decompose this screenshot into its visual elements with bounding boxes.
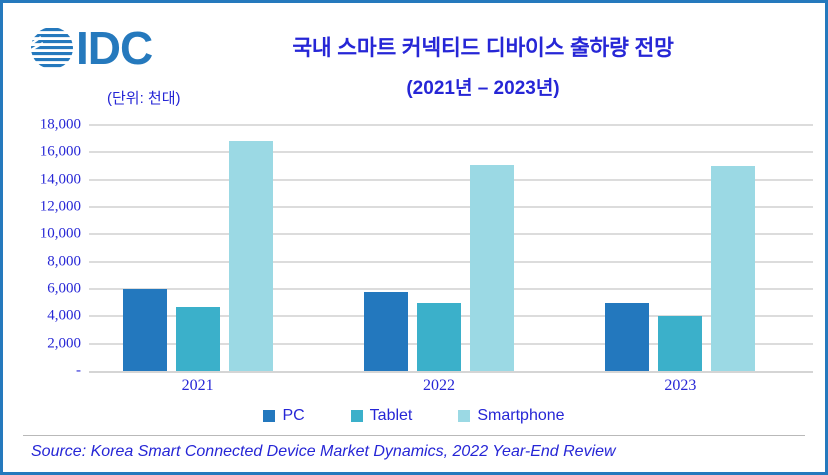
bar-tablet-2021 [176, 307, 220, 371]
x-axis-line [89, 371, 813, 373]
x-axis-tick-label: 2023 [664, 377, 696, 395]
bar-pc-2022 [364, 292, 408, 371]
x-axis-tick-label: 2022 [423, 377, 455, 395]
source-note: Source: Korea Smart Connected Device Mar… [31, 443, 616, 461]
legend-item-pc[interactable]: PC [263, 407, 304, 425]
chart-slide: IDC 국내 스마트 커넥티드 디바이스 출하량 전망 (2021년 – 202… [0, 0, 828, 475]
bar-smartphone-2022 [470, 165, 514, 371]
gridline [89, 151, 813, 153]
legend-swatch-icon [458, 410, 470, 422]
y-axis-tick-label: 12,000 [11, 199, 81, 216]
idc-logo: IDC [29, 21, 152, 75]
legend-label: Smartphone [477, 407, 564, 425]
y-axis-tick-label: 18,000 [11, 117, 81, 134]
gridline [89, 179, 813, 181]
legend-label: Tablet [370, 407, 413, 425]
footer-divider [23, 435, 805, 436]
y-axis-tick-label: 16,000 [11, 144, 81, 161]
bar-smartphone-2021 [229, 141, 273, 371]
legend-swatch-icon [263, 410, 275, 422]
chart-legend: PCTabletSmartphone [3, 407, 825, 425]
chart-title: 국내 스마트 커넥티드 디바이스 출하량 전망 [203, 31, 763, 62]
globe-icon [29, 25, 75, 71]
legend-swatch-icon [351, 410, 363, 422]
bar-pc-2023 [605, 303, 649, 371]
gridline [89, 288, 813, 290]
plot-area: 18,00016,00014,00012,00010,0008,0006,000… [89, 125, 813, 371]
bar-tablet-2022 [417, 303, 461, 371]
chart-subtitle: (2021년 – 2023년) [203, 73, 763, 100]
bar-pc-2021 [123, 289, 167, 371]
bar-smartphone-2023 [711, 166, 755, 371]
idc-wordmark: IDC [76, 25, 152, 71]
gridline [89, 261, 813, 263]
y-axis-tick-label: 6,000 [11, 281, 81, 298]
y-axis-tick-label: 4,000 [11, 308, 81, 325]
gridline [89, 206, 813, 208]
unit-label: (단위: 천대) [107, 87, 181, 108]
bar-tablet-2023 [658, 316, 702, 371]
gridline [89, 124, 813, 126]
y-axis-tick-label: 8,000 [11, 253, 81, 270]
y-axis-tick-label: 2,000 [11, 335, 81, 352]
y-axis-tick-label: 14,000 [11, 171, 81, 188]
y-axis-tick-label: - [11, 363, 81, 380]
legend-label: PC [282, 407, 304, 425]
x-axis-tick-label: 2021 [182, 377, 214, 395]
legend-item-tablet[interactable]: Tablet [351, 407, 413, 425]
legend-item-smartphone[interactable]: Smartphone [458, 407, 564, 425]
gridline [89, 233, 813, 235]
y-axis-tick-label: 10,000 [11, 226, 81, 243]
